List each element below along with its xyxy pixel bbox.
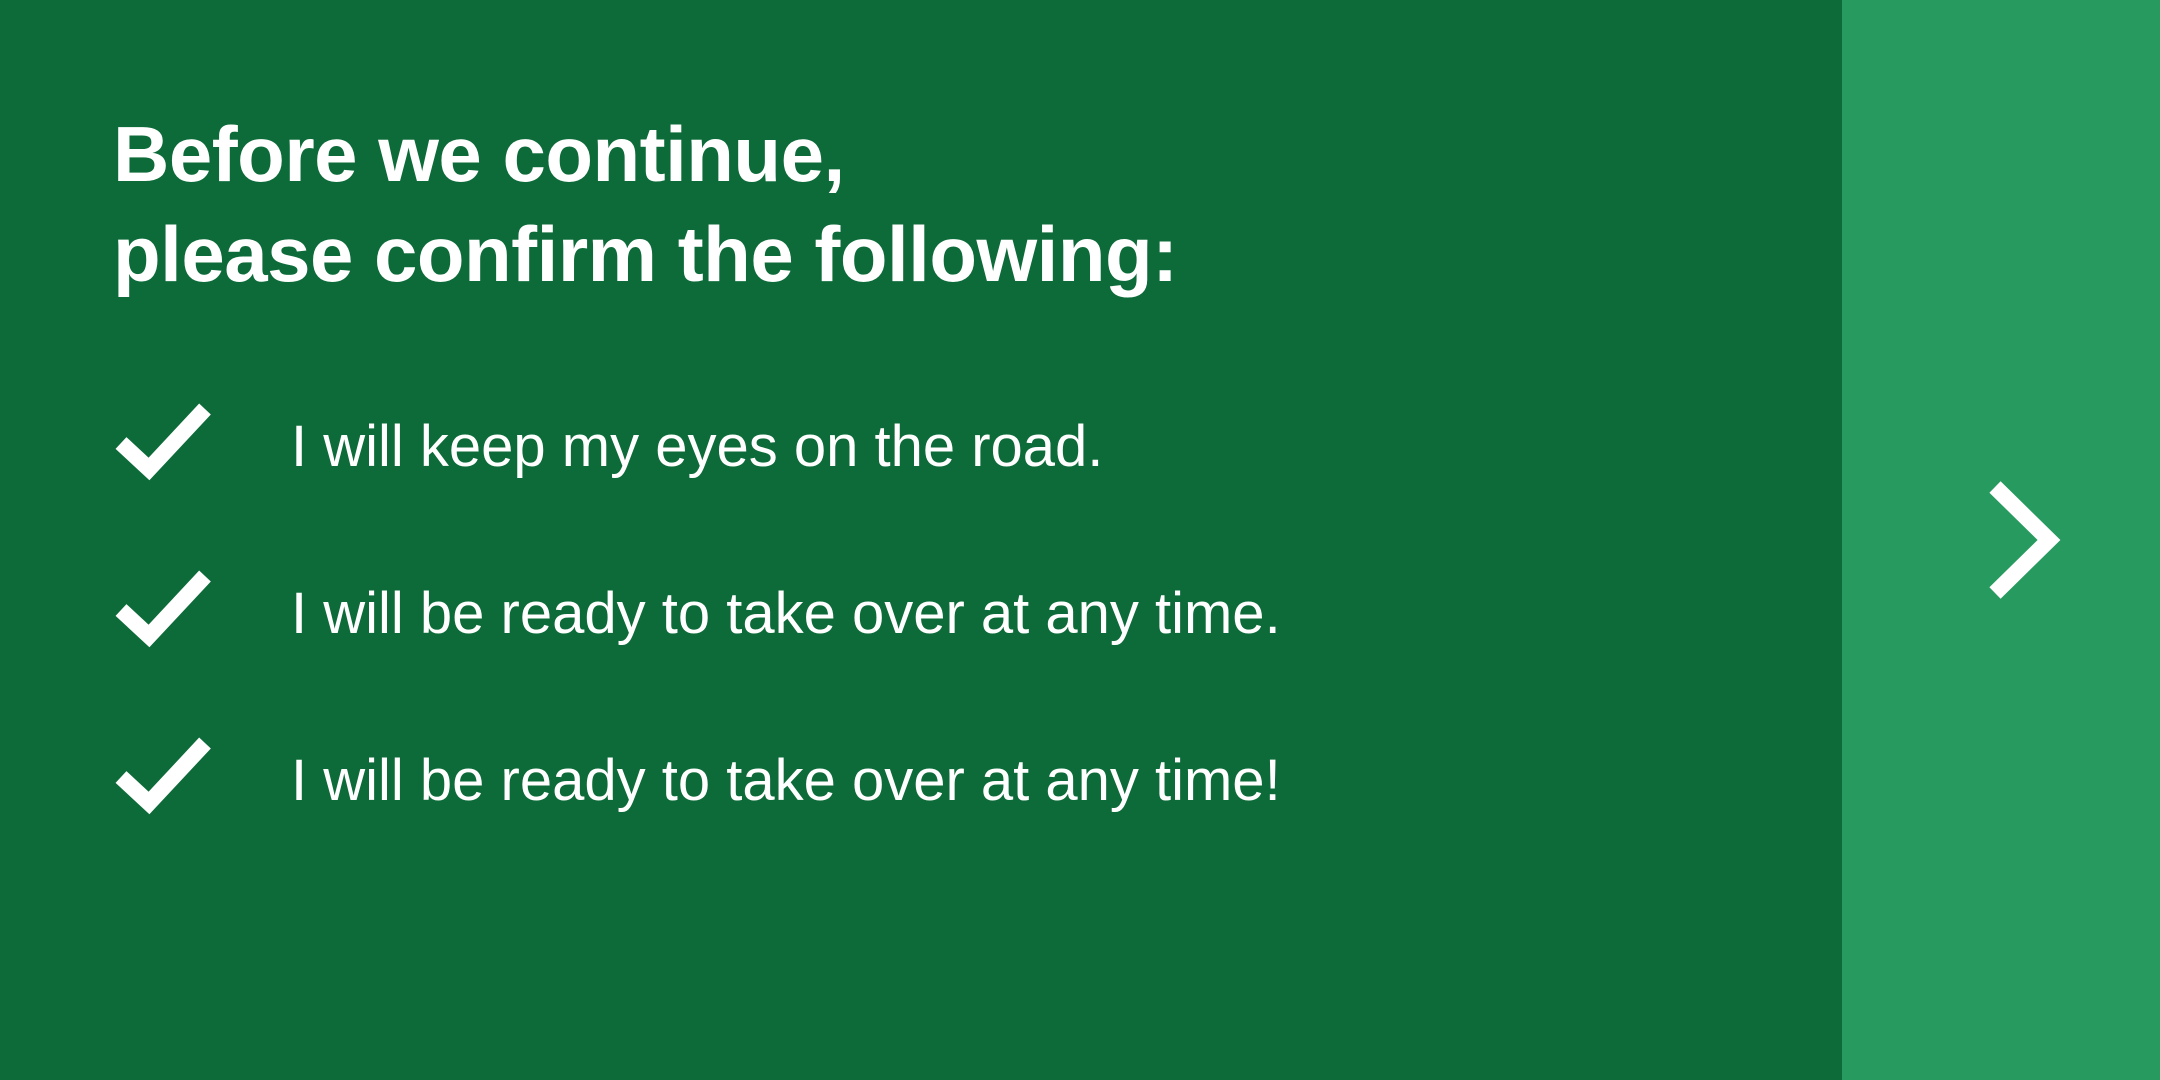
checklist-item[interactable]: I will keep my eyes on the road. [113,392,1763,502]
check-icon [113,397,213,497]
checklist-item[interactable]: I will be ready to take over at any time… [113,559,1763,669]
next-button[interactable] [1912,430,2132,650]
check-icon [113,564,213,664]
main-panel: Before we continue, please confirm the f… [0,0,1842,1080]
checklist-item-label: I will be ready to take over at any time… [291,581,1763,647]
checklist-item-label: I will be ready to take over at any time… [291,748,1763,814]
checklist-item-label: I will keep my eyes on the road. [291,414,1763,480]
confirmation-checklist: I will keep my eyes on the road. I will … [113,392,1763,836]
confirmation-screen: Before we continue, please confirm the f… [0,0,2160,1080]
next-panel[interactable] [1842,0,2160,1080]
check-icon [113,731,213,831]
page-title-line-1: Before we continue, [113,104,1713,204]
chevron-right-icon [1977,475,2067,605]
page-title: Before we continue, please confirm the f… [113,104,1713,304]
checklist-item[interactable]: I will be ready to take over at any time… [113,726,1763,836]
page-title-line-2: please confirm the following: [113,204,1713,304]
